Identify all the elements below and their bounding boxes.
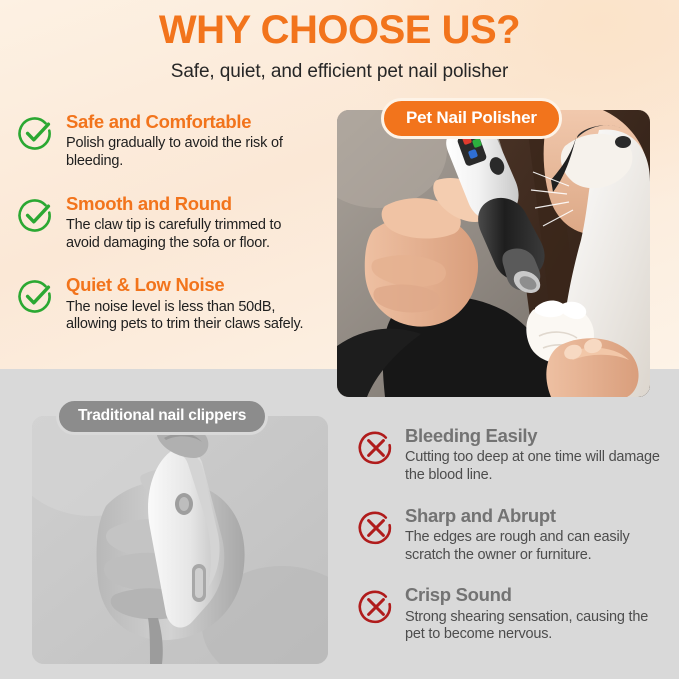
- cross-circle-icon: [356, 428, 396, 468]
- feature-list: Safe and Comfortable Polish gradually to…: [16, 111, 316, 334]
- drawback-title: Sharp and Abrupt: [405, 506, 668, 526]
- feature-item: Smooth and Round The claw tip is careful…: [16, 193, 316, 253]
- feature-description: The claw tip is carefully trimmed to avo…: [66, 217, 316, 252]
- feature-text: Smooth and Round The claw tip is careful…: [66, 193, 316, 253]
- check-circle-icon: [16, 276, 56, 316]
- clipper-photo: [32, 416, 328, 664]
- feature-title: Smooth and Round: [66, 194, 316, 214]
- drawback-description: Cutting too deep at one time will damage…: [405, 449, 668, 484]
- drawback-item: Crisp Sound Strong shearing sensation, c…: [356, 585, 668, 644]
- feature-title: Safe and Comfortable: [66, 112, 316, 132]
- drawback-text: Sharp and Abrupt The edges are rough and…: [405, 506, 668, 565]
- drawback-item: Sharp and Abrupt The edges are rough and…: [356, 506, 668, 565]
- check-circle-icon: [16, 113, 56, 153]
- feature-title: Quiet & Low Noise: [66, 275, 316, 295]
- product-badge: Pet Nail Polisher: [381, 98, 562, 139]
- cross-circle-icon: [356, 508, 396, 548]
- feature-description: The noise level is less than 50dB, allow…: [66, 299, 316, 334]
- product-photo: [337, 110, 650, 397]
- drawback-item: Bleeding Easily Cutting too deep at one …: [356, 426, 668, 485]
- check-circle-icon: [16, 195, 56, 235]
- drawback-text: Crisp Sound Strong shearing sensation, c…: [405, 585, 668, 644]
- page-title: WHY CHOOSE US?: [0, 8, 679, 52]
- header: WHY CHOOSE US? Safe, quiet, and efficien…: [0, 8, 679, 83]
- drawback-description: The edges are rough and can easily scrat…: [405, 529, 668, 564]
- cross-circle-icon: [356, 587, 396, 627]
- drawback-description: Strong shearing sensation, causing the p…: [405, 609, 668, 644]
- feature-text: Quiet & Low Noise The noise level is les…: [66, 274, 316, 334]
- product-infographic: WHY CHOOSE US? Safe, quiet, and efficien…: [0, 0, 679, 679]
- page-subtitle: Safe, quiet, and efficient pet nail poli…: [0, 61, 679, 83]
- feature-text: Safe and Comfortable Polish gradually to…: [66, 111, 316, 171]
- feature-item: Safe and Comfortable Polish gradually to…: [16, 111, 316, 171]
- drawback-list: Bleeding Easily Cutting too deep at one …: [356, 426, 668, 644]
- clipper-badge: Traditional nail clippers: [56, 398, 268, 435]
- feature-description: Polish gradually to avoid the risk of bl…: [66, 135, 316, 170]
- drawback-title: Bleeding Easily: [405, 426, 668, 446]
- drawback-text: Bleeding Easily Cutting too deep at one …: [405, 426, 668, 485]
- feature-item: Quiet & Low Noise The noise level is les…: [16, 274, 316, 334]
- drawback-title: Crisp Sound: [405, 585, 668, 605]
